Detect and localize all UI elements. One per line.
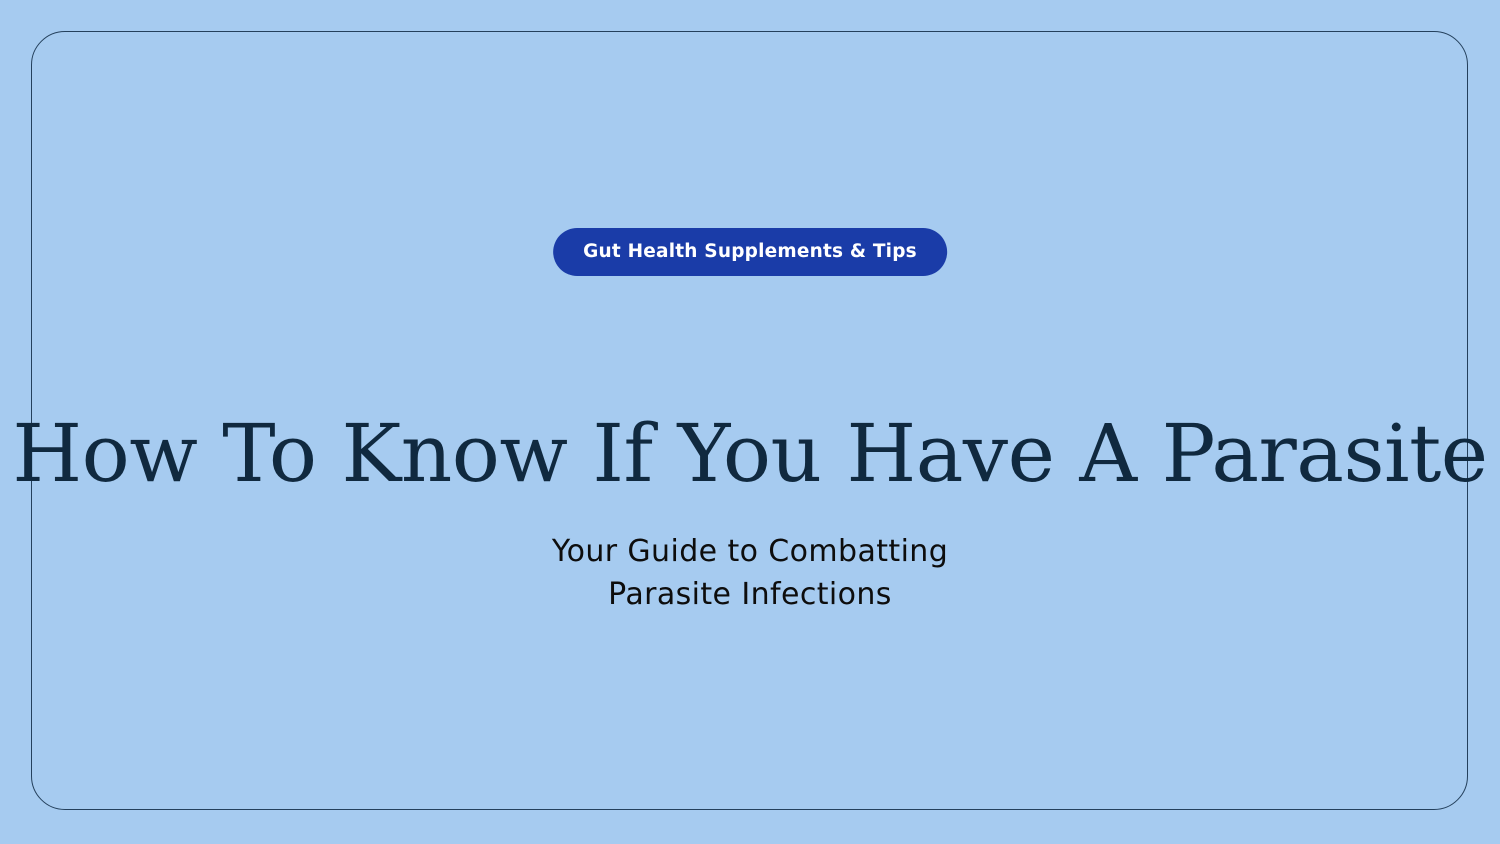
category-badge[interactable]: Gut Health Supplements & Tips [553,228,947,276]
slide-content: Gut Health Supplements & Tips How To Kno… [0,0,1500,844]
page-title: How To Know If You Have A Parasite [0,410,1500,498]
subtitle-block: Your Guide to Combatting Parasite Infect… [0,530,1500,616]
category-badge-label: Gut Health Supplements & Tips [583,243,917,262]
title-slide: Gut Health Supplements & Tips How To Kno… [0,0,1500,844]
subtitle-line-2: Parasite Infections [0,573,1500,616]
subtitle-line-1: Your Guide to Combatting [0,530,1500,573]
